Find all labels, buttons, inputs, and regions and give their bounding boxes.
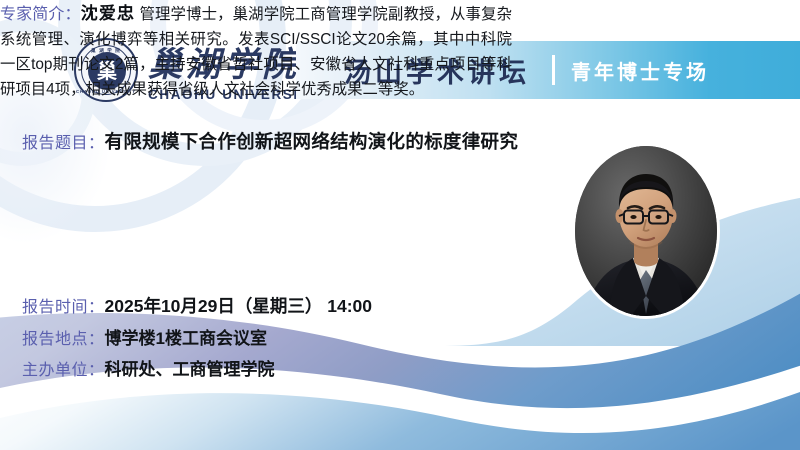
poster-content: 报告题目： 有限规模下合作创新超网络结构演化的标度律研究 专家简介：沈爱忠 管理… [0, 0, 800, 450]
lecture-place-value: 博学楼1楼工商会议室 [105, 324, 267, 349]
lecture-place-row: 报告地点： 博学楼1楼工商会议室 [22, 324, 267, 349]
lecture-poster: 巢 湖 学 院 巢 CHAOHU UNIVERSITY 巢湖学院 CHAOHU … [0, 0, 800, 450]
speaker-bio-paragraph: 专家简介：沈爱忠 管理学博士，巢湖学院工商管理学院副教授，从事复杂系统管理、演化… [0, 0, 512, 103]
lecture-title-row: 报告题目： 有限规模下合作创新超网络结构演化的标度律研究 [22, 128, 518, 154]
lecture-host-row: 主办单位： 科研处、工商管理学院 [22, 355, 275, 380]
lecture-place-label: 报告地点： [22, 325, 105, 349]
lecture-title-value: 有限规模下合作创新超网络结构演化的标度律研究 [105, 128, 519, 154]
speaker-bio-label: 专家简介： [0, 6, 81, 23]
speaker-portrait-photo [575, 146, 717, 316]
portrait-illustration [575, 146, 717, 316]
speaker-name: 沈爱忠 [81, 4, 135, 23]
lecture-time-value: 2025年10月29日（星期三） 14:00 [105, 293, 372, 318]
lecture-host-value: 科研处、工商管理学院 [105, 355, 275, 380]
lecture-time-label: 报告时间： [22, 293, 105, 317]
lecture-title-label: 报告题目： [22, 129, 105, 153]
speaker-bio-row: 专家简介：沈爱忠 管理学博士，巢湖学院工商管理学院副教授，从事复杂系统管理、演化… [0, 0, 512, 103]
lecture-time-row: 报告时间： 2025年10月29日（星期三） 14:00 [22, 293, 372, 318]
lecture-host-label: 主办单位： [22, 356, 105, 380]
